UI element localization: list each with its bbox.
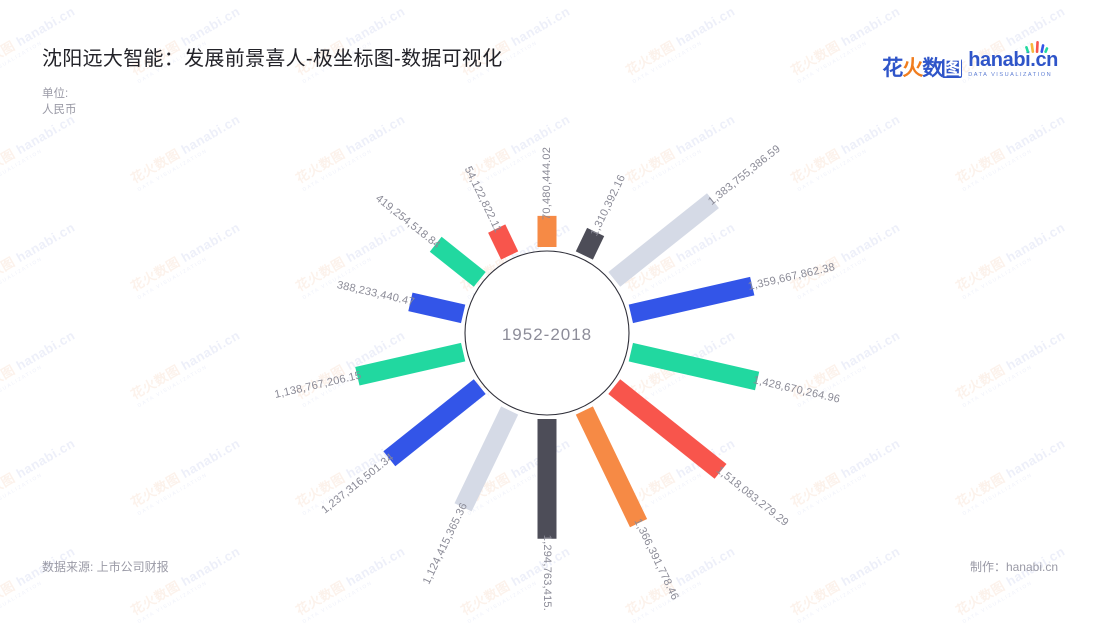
brand-char-huo: 火	[902, 58, 922, 79]
polar-bar[interactable]	[538, 419, 557, 539]
brand-logo-english-wrap: hanabi.cn DATA VISUALIZATION	[968, 50, 1058, 79]
footer-credit: 制作：hanabi.cn	[970, 558, 1058, 575]
page-title: 沈阳远大智能：发展前景喜人-极坐标图-数据可视化	[42, 42, 503, 71]
polar-bar[interactable]	[629, 277, 755, 323]
polar-bar[interactable]	[608, 379, 726, 479]
polar-bar[interactable]	[408, 293, 465, 324]
brand-logo-subtitle: DATA VISUALIZATION	[968, 72, 1058, 78]
unit-label: 单位: 人民币	[42, 86, 82, 118]
brand-logo-chinese: 花火数图	[882, 58, 962, 79]
bar-value-label: 1,428,670,264.96	[752, 374, 841, 406]
brand-logo: 花火数图 hanabi.cn DATA VISUALIZATION	[882, 50, 1058, 79]
brand-char-shu: 数	[922, 58, 942, 79]
bar-value-label: 1,359,667,862.38	[747, 261, 836, 293]
brand-char-tu: 图	[942, 59, 962, 78]
sparkle-icon	[1024, 41, 1050, 53]
center-range-label: 1952-2018	[502, 325, 592, 344]
polar-bar[interactable]	[383, 379, 485, 466]
brand-wordmark-name: hanabi	[968, 49, 1030, 71]
bar-value-label: 1,383,755,386.59	[706, 143, 783, 208]
polar-bar[interactable]	[576, 406, 647, 527]
bar-value-label: 1,237,316,501.34	[319, 451, 396, 516]
polar-bar-chart: 1952-2018 70,480,444.021,310,392.161,383…	[0, 0, 1100, 620]
bar-value-label: 1,138,767,206.15	[273, 369, 362, 401]
brand-logo-wordmark: hanabi.cn	[968, 50, 1058, 70]
bar-value-label: 1,124,415,365.36	[421, 501, 470, 586]
bar-value-label: 70,480,444.02	[541, 147, 553, 220]
bar-value-label: 1,518,083,279.29	[714, 464, 791, 529]
bar-value-label: 388,233,440.47	[336, 279, 416, 308]
brand-char-hua: 花	[882, 58, 902, 79]
polar-bar[interactable]	[455, 406, 519, 511]
bar-value-label: 54,122,822.11	[462, 165, 504, 235]
polar-bar[interactable]	[629, 343, 760, 390]
bar-value-label: 1,366,391,778.46	[631, 517, 680, 602]
bar-value-label: 1,310,392.16	[588, 173, 628, 238]
bar-value-label: 1,294,763,415.	[541, 535, 553, 611]
bar-value-label: 419,254,518.84	[373, 192, 442, 251]
footer-data-source: 数据来源: 上市公司财报	[42, 558, 169, 575]
polar-bar[interactable]	[608, 193, 719, 287]
polar-bar[interactable]	[355, 343, 465, 386]
